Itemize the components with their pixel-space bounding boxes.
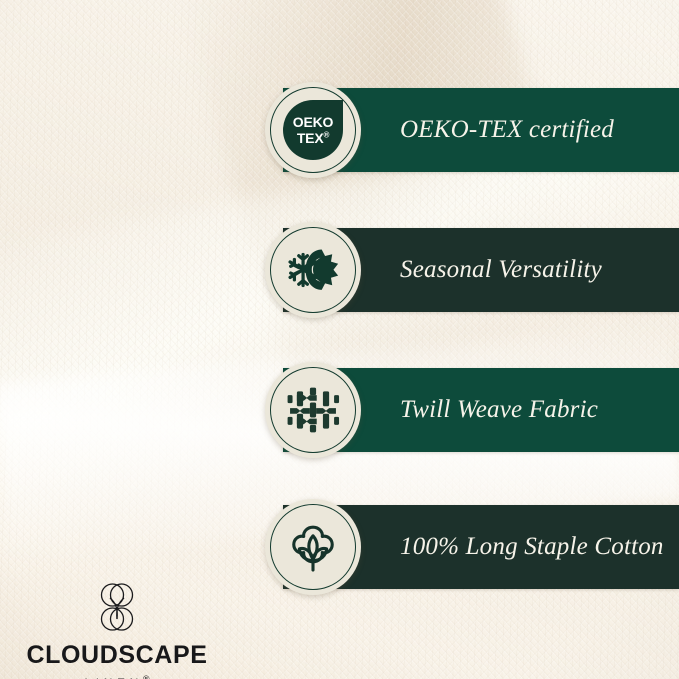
snowflake-sun-icon	[282, 239, 344, 301]
feature-badge-long-staple-cotton	[265, 499, 361, 595]
oeko-tex-line-2: TEX®	[297, 131, 329, 145]
brand-registered-mark: ®	[143, 674, 150, 679]
brand-lockup: CLOUDSCAPE LINEN®	[22, 578, 212, 679]
feature-badge-twill-weave	[265, 362, 361, 458]
brand-name: CLOUDSCAPE	[22, 643, 212, 668]
woven-fabric-icon	[282, 379, 344, 441]
feature-row-twill-weave: Twill Weave Fabric	[0, 362, 679, 458]
registered-mark: ®	[323, 130, 329, 139]
cotton-boll-icon	[282, 516, 344, 578]
product-feature-graphic: OEKO-TEX certified OEKO TEX® Seasonal Ve…	[0, 0, 679, 679]
feature-label-oeko-tex: OEKO-TEX certified	[400, 82, 665, 178]
feature-row-seasonal-versatility: Seasonal Versatility	[0, 222, 679, 318]
brand-tagline: LINEN®	[22, 675, 212, 679]
feature-label-seasonal-versatility: Seasonal Versatility	[400, 222, 665, 318]
feature-label-twill-weave: Twill Weave Fabric	[400, 362, 665, 458]
feature-badge-oeko-tex: OEKO TEX®	[265, 82, 361, 178]
oeko-tex-line-2-text: TEX	[297, 130, 324, 146]
oeko-tex-badge-icon: OEKO TEX®	[283, 100, 343, 160]
feature-label-long-staple-cotton: 100% Long Staple Cotton	[400, 499, 665, 595]
feature-badge-seasonal-versatility	[265, 222, 361, 318]
oeko-tex-line-1: OEKO	[293, 115, 333, 129]
interlocking-loops-logo-icon	[94, 578, 140, 636]
feature-row-oeko-tex: OEKO-TEX certified OEKO TEX®	[0, 82, 679, 178]
